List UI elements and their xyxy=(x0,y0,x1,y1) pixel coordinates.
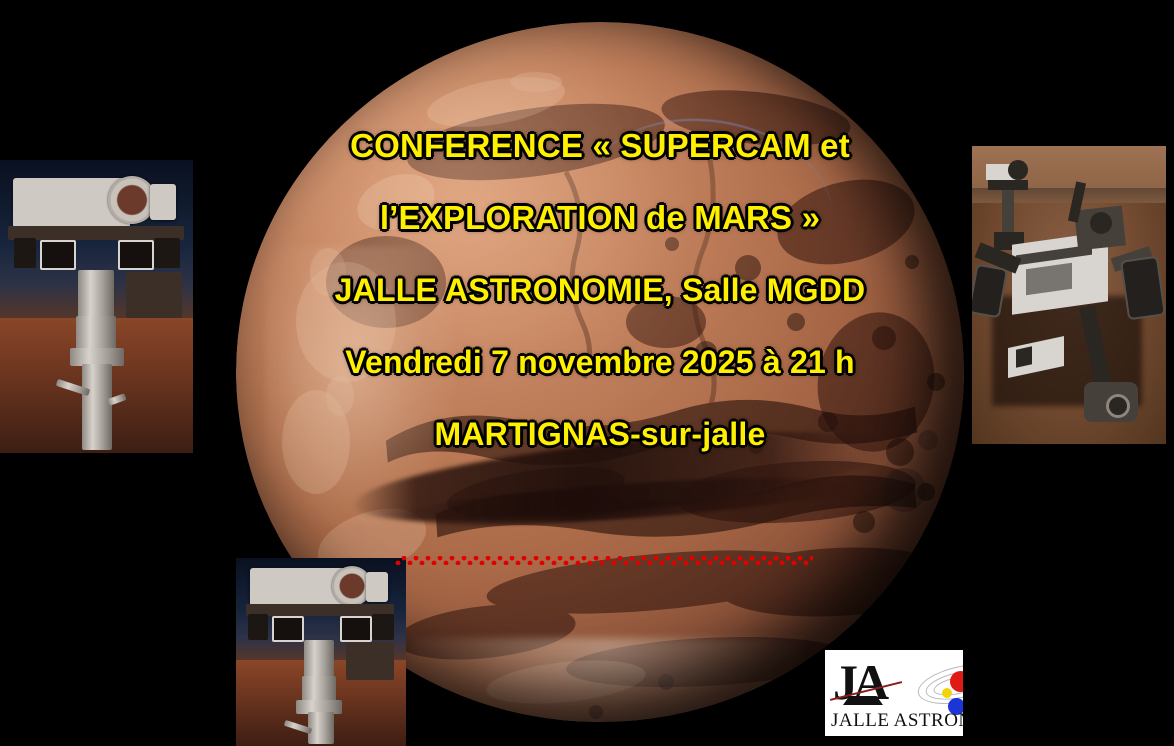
perseverance-rover-photo xyxy=(972,146,1166,444)
logo-tripod-base xyxy=(843,696,883,705)
rover-wheel-right xyxy=(1120,256,1166,321)
supercam-left-camera xyxy=(272,616,304,642)
rover-rtg-port xyxy=(1090,212,1112,234)
jalle-astronomie-logo: JA JALLE ASTRONOM xyxy=(825,650,963,736)
rover-lower-panel-slot xyxy=(1016,346,1032,367)
supercam-left-housing xyxy=(14,238,36,268)
supercam-right-camera xyxy=(118,240,154,270)
supercam-mast-photo-left xyxy=(0,160,193,453)
supercam-left-camera xyxy=(40,240,76,270)
rover-mast-neck xyxy=(1002,190,1014,234)
supercam-electronics-box xyxy=(346,642,394,680)
rover-drill-bit xyxy=(1106,394,1130,418)
rover-mast-crossbar xyxy=(988,180,1028,190)
rover-mastcam-lens xyxy=(1008,160,1028,180)
supercam-right-housing xyxy=(372,614,394,640)
supercam-right-panel xyxy=(150,184,176,220)
supercam-mast-column xyxy=(308,712,334,744)
logo-inner: JA JALLE ASTRONOM xyxy=(825,650,963,736)
supercam-left-housing xyxy=(248,614,268,640)
supercam-telescope-aperture xyxy=(108,176,156,224)
slide-canvas: CONFERENCE « SUPERCAM et l’EXPLORATION d… xyxy=(0,0,1174,746)
logo-planet-yellow xyxy=(942,688,952,698)
supercam-neck xyxy=(78,270,114,320)
supercam-mast-photo-bottom xyxy=(236,558,406,746)
supercam-collar xyxy=(302,676,336,702)
supercam-mast-column xyxy=(82,364,112,450)
supercam-collar xyxy=(76,316,116,350)
logo-caption: JALLE ASTRONOM xyxy=(831,710,963,732)
supercam-right-housing xyxy=(154,238,180,268)
supercam-right-panel xyxy=(366,572,388,602)
supercam-neck xyxy=(304,640,334,680)
supercam-right-camera xyxy=(340,616,372,642)
supercam-electronics-box xyxy=(126,272,182,318)
